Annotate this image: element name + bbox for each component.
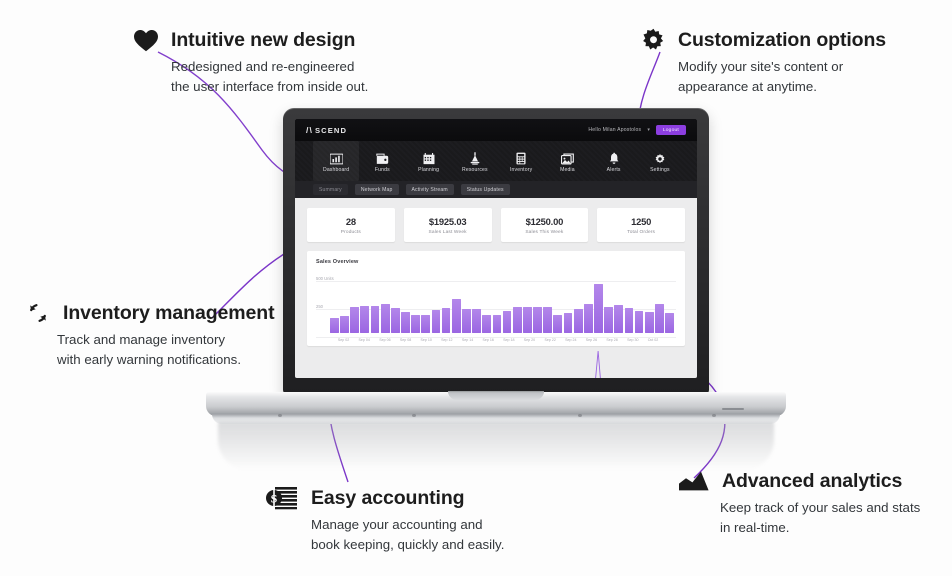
nav-item-inventory[interactable]: Inventory — [498, 141, 544, 181]
feature-advanced-analytics: Advanced analytics Keep track of your sa… — [678, 468, 920, 538]
feature-heading: Advanced analytics — [678, 468, 920, 494]
chart-title: Sales Overview — [316, 259, 676, 265]
gear-icon — [640, 27, 666, 53]
bell-icon — [609, 150, 619, 165]
stat-value: $1925.03 — [408, 216, 488, 227]
feature-line: Modify your site's content or — [678, 57, 886, 77]
chart-x-tick — [516, 338, 522, 342]
app-content-area: 28 Products $1925.03 Sales Last Week $12… — [295, 198, 697, 378]
refresh-cycle-icon — [25, 300, 51, 326]
nav-label: Dashboard — [323, 167, 349, 173]
topbar-right: Hello Milan Apostolos ▾ Logout — [588, 125, 686, 135]
chart-x-tick: Sep 30 — [627, 338, 638, 342]
tab-network-map[interactable]: Network Map — [355, 184, 399, 195]
stat-label: Sales Last Week — [408, 230, 488, 235]
feature-heading: Intuitive new design — [133, 27, 368, 53]
chart-x-tick: Sep 08 — [400, 338, 411, 342]
user-greeting: Hello Milan Apostolos — [588, 127, 641, 133]
tab-summary[interactable]: Summary — [313, 184, 348, 195]
feature-line: the user interface from inside out. — [171, 77, 368, 97]
feature-title: Intuitive new design — [171, 29, 355, 52]
laptop-side-slot — [722, 408, 744, 410]
feature-title: Easy accounting — [311, 487, 464, 510]
nav-label: Settings — [650, 167, 670, 173]
feature-heading: Customization options — [640, 27, 886, 53]
laptop-foot — [712, 414, 716, 417]
laptop-reflection — [218, 422, 774, 470]
app-topbar: /\ SCEND Hello Milan Apostolos ▾ Logout — [295, 119, 697, 141]
logout-button[interactable]: Logout — [656, 125, 686, 135]
feature-line: book keeping, quickly and easily. — [311, 535, 504, 555]
heart-icon — [133, 27, 159, 53]
chart-trend-line — [330, 268, 674, 378]
nav-label: Resources — [462, 167, 488, 173]
nav-item-dashboard[interactable]: Dashboard — [313, 141, 359, 181]
feature-line: Manage your accounting and — [311, 515, 504, 535]
laptop-foot — [412, 414, 416, 417]
bar-chart-icon — [678, 468, 710, 494]
calculator-icon — [516, 150, 526, 165]
stat-value: 1250 — [601, 216, 681, 227]
chart-x-tick: Oct 02 — [648, 338, 659, 342]
feature-easy-accounting: S Easy accounting Manage your accounting… — [265, 485, 504, 555]
chart-x-tick: Sep 20 — [524, 338, 535, 342]
chart-x-tick: Sep 14 — [462, 338, 473, 342]
brand-mark-icon: /\ — [306, 125, 313, 135]
laptop-foot — [578, 414, 582, 417]
nav-label: Media — [560, 167, 575, 173]
app-main-nav: Dashboard Funds Planning — [295, 141, 697, 181]
chart-x-tick — [495, 338, 501, 342]
tab-activity-stream[interactable]: Activity Stream — [406, 184, 454, 195]
calendar-icon — [423, 150, 435, 165]
chart-x-tick: Sep 18 — [503, 338, 514, 342]
chart-x-tick: Sep 28 — [606, 338, 617, 342]
chart-x-tick — [454, 338, 460, 342]
chart-y-tick: 250 — [316, 304, 323, 309]
chart-plot: 500 Units250 Sep 02Sep 04Sep 06Sep 08Sep… — [316, 268, 676, 342]
feature-intuitive-new-design: Intuitive new design Redesigned and re-e… — [133, 27, 368, 97]
chart-x-tick — [640, 338, 646, 342]
chart-x-tick: Sep 16 — [482, 338, 493, 342]
feature-description: Keep track of your sales and stats in re… — [720, 498, 920, 538]
nav-item-settings[interactable]: Settings — [637, 141, 683, 181]
laptop-foot — [278, 414, 282, 417]
feature-line: Keep track of your sales and stats — [720, 498, 920, 518]
chart-x-tick — [578, 338, 584, 342]
chart-x-tick — [433, 338, 439, 342]
stat-card-products[interactable]: 28 Products — [307, 208, 395, 242]
oil-lamp-icon — [470, 150, 480, 165]
feature-line: Redesigned and re-engineered — [171, 57, 368, 77]
chart-trend-polyline — [335, 351, 669, 378]
chart-x-tick: Sep 24 — [565, 338, 576, 342]
chevron-down-icon[interactable]: ▾ — [647, 127, 650, 133]
chart-x-tick: Sep 12 — [441, 338, 452, 342]
chart-x-tick — [557, 338, 563, 342]
nav-item-media[interactable]: Media — [544, 141, 590, 181]
nav-item-funds[interactable]: Funds — [359, 141, 405, 181]
stat-card-row: 28 Products $1925.03 Sales Last Week $12… — [307, 208, 685, 242]
feature-customization-options: Customization options Modify your site's… — [640, 27, 886, 97]
nav-label: Alerts — [607, 167, 621, 173]
chart-x-tick — [537, 338, 543, 342]
chart-x-tick — [599, 338, 605, 342]
feature-description: Redesigned and re-engineered the user in… — [171, 57, 368, 97]
feature-heading: S Easy accounting — [265, 485, 504, 511]
feature-title: Inventory management — [63, 302, 274, 325]
money-stack-icon: S — [265, 485, 299, 511]
laptop-mockup: /\ SCEND Hello Milan Apostolos ▾ Logout — [206, 108, 786, 448]
chart-bars-icon — [330, 150, 343, 165]
chart-x-tick — [619, 338, 625, 342]
stat-card-sales-last-week[interactable]: $1925.03 Sales Last Week — [404, 208, 492, 242]
stat-card-sales-this-week[interactable]: $1250.00 Sales This Week — [501, 208, 589, 242]
gear-icon — [654, 150, 666, 165]
chart-x-tick — [475, 338, 481, 342]
feature-heading: Inventory management — [25, 300, 274, 326]
stat-value: $1250.00 — [505, 216, 585, 227]
feature-description: Modify your site's content or appearance… — [678, 57, 886, 97]
app-tab-strip: Summary Network Map Activity Stream Stat… — [295, 181, 697, 198]
nav-item-planning[interactable]: Planning — [406, 141, 452, 181]
chart-x-tick: Sep 04 — [359, 338, 370, 342]
feature-description: Manage your accounting and book keeping,… — [311, 515, 504, 555]
nav-label: Inventory — [510, 167, 532, 173]
chart-x-tick: Sep 22 — [544, 338, 555, 342]
stat-label: Total Orders — [601, 230, 681, 235]
brand-name: SCEND — [315, 126, 347, 135]
chart-x-tick: Sep 26 — [586, 338, 597, 342]
laptop-base — [206, 392, 786, 416]
app-brand: /\ SCEND — [306, 125, 347, 135]
stat-value: 28 — [311, 216, 391, 227]
nav-item-resources[interactable]: Resources — [452, 141, 498, 181]
chart-x-tick — [371, 338, 377, 342]
chart-x-tick — [392, 338, 398, 342]
nav-item-alerts[interactable]: Alerts — [591, 141, 637, 181]
chart-x-tick — [413, 338, 419, 342]
chart-x-axis-labels: Sep 02Sep 04Sep 06Sep 08Sep 10Sep 12Sep … — [330, 338, 674, 342]
chart-x-tick — [660, 338, 666, 342]
chart-x-tick: Sep 02 — [338, 338, 349, 342]
feature-description: Track and manage inventory with early wa… — [57, 330, 274, 370]
photos-icon — [561, 150, 574, 165]
chart-x-tick — [668, 338, 674, 342]
stat-label: Sales This Week — [505, 230, 585, 235]
feature-inventory-management: Inventory management Track and manage in… — [25, 300, 274, 370]
nav-label: Planning — [418, 167, 439, 173]
nav-label: Funds — [375, 167, 390, 173]
feature-line: appearance at anytime. — [678, 77, 886, 97]
feature-title: Advanced analytics — [722, 470, 902, 493]
feature-title: Customization options — [678, 29, 886, 52]
laptop-screen: /\ SCEND Hello Milan Apostolos ▾ Logout — [295, 119, 697, 378]
laptop-lid: /\ SCEND Hello Milan Apostolos ▾ Logout — [283, 108, 709, 394]
chart-x-tick — [351, 338, 357, 342]
stat-card-total-orders[interactable]: 1250 Total Orders — [597, 208, 685, 242]
tab-status-updates[interactable]: Status Updates — [461, 184, 510, 195]
feature-line: Track and manage inventory — [57, 330, 274, 350]
chart-x-tick — [330, 338, 336, 342]
sales-overview-chart-card: Sales Overview 500 Units250 Sep 02Sep 04… — [307, 251, 685, 346]
feature-line: in real-time. — [720, 518, 920, 538]
chart-x-tick: Sep 10 — [421, 338, 432, 342]
wallet-icon — [376, 150, 389, 165]
stat-label: Products — [311, 230, 391, 235]
chart-x-tick: Sep 06 — [379, 338, 390, 342]
infographic-stage: /\ SCEND Hello Milan Apostolos ▾ Logout — [0, 0, 952, 576]
feature-line: with early warning notifications. — [57, 350, 274, 370]
